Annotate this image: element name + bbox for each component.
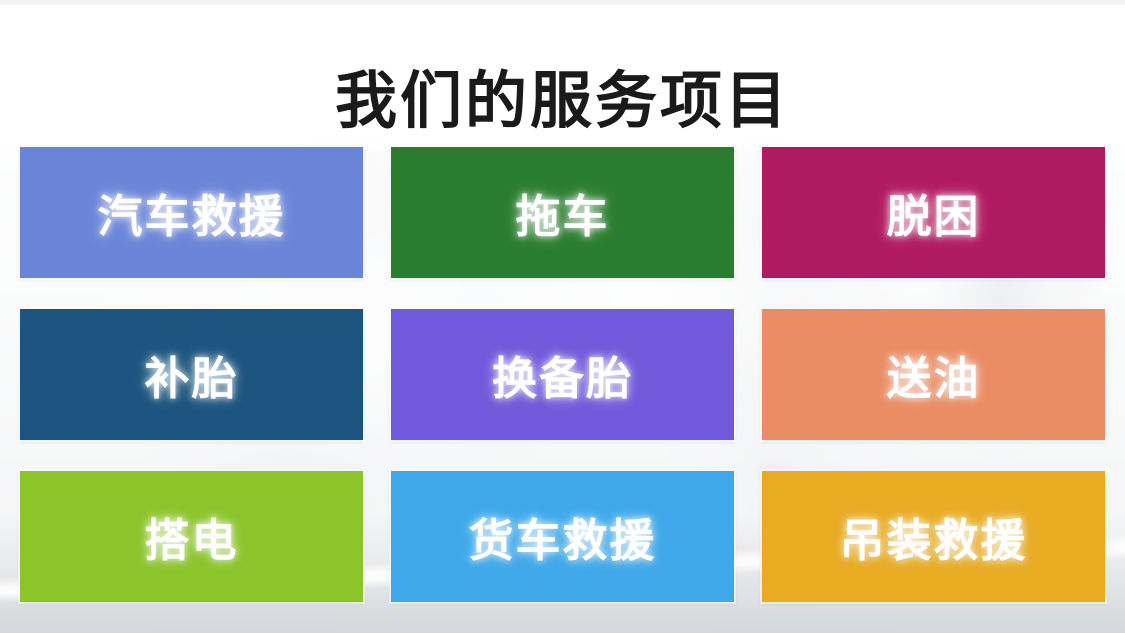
service-tile-label: 搭电 — [144, 504, 238, 569]
service-tile-car-rescue[interactable]: 汽车救援 — [20, 147, 363, 278]
service-tile-label: 换备胎 — [492, 342, 633, 407]
service-tile-crane-lift-rescue[interactable]: 吊装救援 — [762, 471, 1105, 602]
service-tile-label: 吊装救援 — [839, 504, 1027, 569]
service-tile-label: 汽车救援 — [97, 180, 285, 245]
service-tile-spare-tire-change[interactable]: 换备胎 — [391, 309, 734, 440]
background-top-edge — [0, 0, 1125, 5]
service-tile-label: 脱困 — [886, 180, 980, 245]
service-tile-label: 送油 — [886, 342, 980, 407]
page-title: 我们的服务项目 — [0, 59, 1125, 145]
service-tile-label: 拖车 — [515, 180, 609, 245]
service-tile-tire-repair[interactable]: 补胎 — [20, 309, 363, 440]
service-tile-label: 货车救援 — [468, 504, 656, 569]
service-tile-extrication[interactable]: 脱困 — [762, 147, 1105, 278]
service-tile-truck-rescue[interactable]: 货车救援 — [391, 471, 734, 602]
service-grid: 汽车救援 拖车 脱困 补胎 换备胎 送油 搭电 货车救援 吊装救援 — [20, 147, 1106, 603]
service-tile-jump-start[interactable]: 搭电 — [20, 471, 363, 602]
service-poster: 我们的服务项目 汽车救援 拖车 脱困 补胎 换备胎 送油 搭电 货车救援 吊装救… — [0, 0, 1125, 633]
service-tile-label: 补胎 — [144, 342, 238, 407]
service-tile-towing[interactable]: 拖车 — [391, 147, 734, 278]
service-tile-fuel-delivery[interactable]: 送油 — [762, 309, 1105, 440]
